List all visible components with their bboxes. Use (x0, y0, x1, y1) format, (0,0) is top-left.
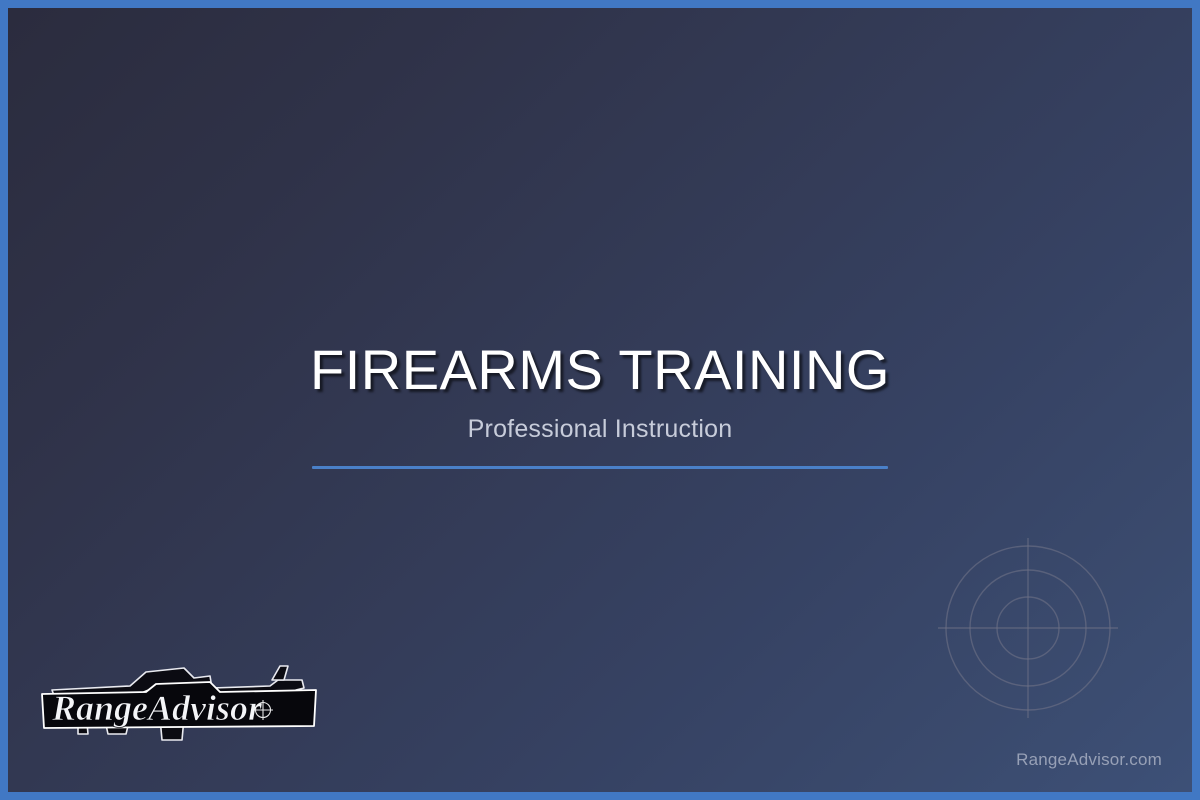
target-crosshair-icon (928, 528, 1128, 728)
brand-logo: RangeAdvisor (34, 654, 324, 754)
title-slide: FIREARMS TRAINING Professional Instructi… (0, 0, 1200, 800)
title-block: FIREARMS TRAINING Professional Instructi… (8, 340, 1192, 469)
page-title: FIREARMS TRAINING (8, 340, 1192, 400)
page-subtitle: Professional Instruction (8, 416, 1192, 444)
footer-url: RangeAdvisor.com (1016, 750, 1162, 770)
brand-logo-text: RangeAdvisor (51, 688, 263, 728)
accent-rule (312, 466, 888, 469)
